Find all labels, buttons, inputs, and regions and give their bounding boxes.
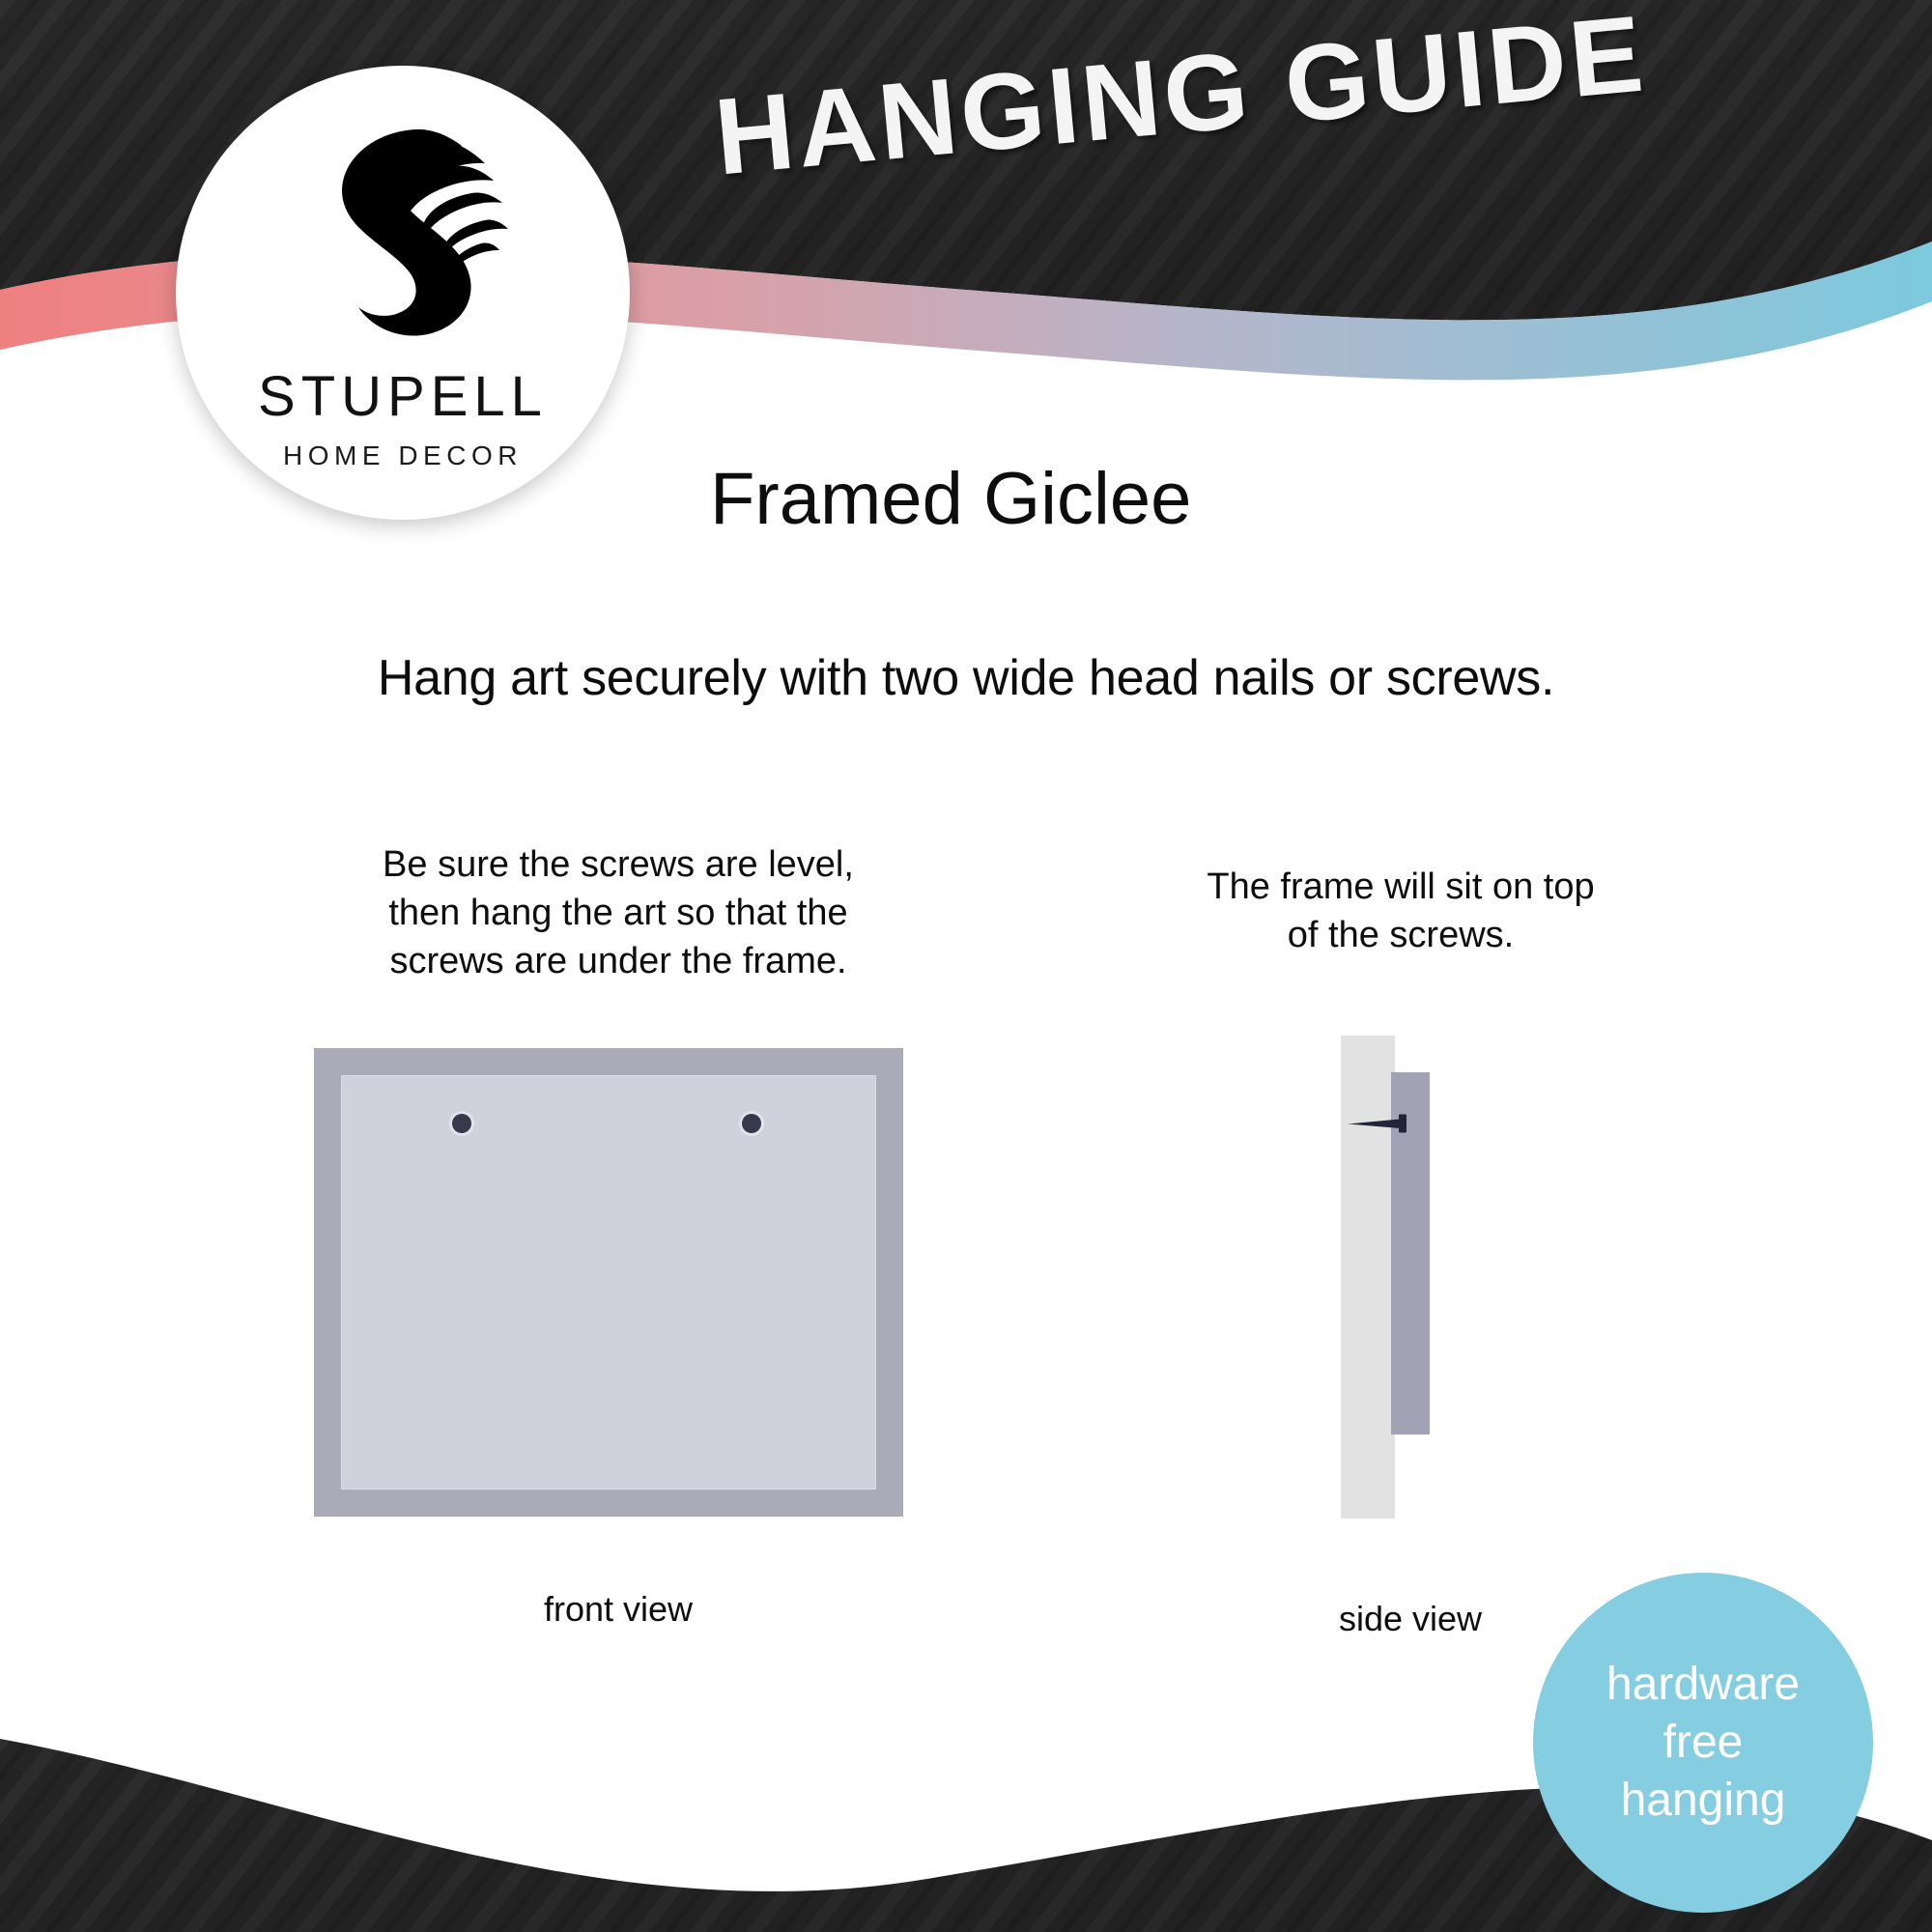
hanging-guide-page: HANGING GUIDE STUPELL HOME DECOR Framed … (0, 0, 1932, 1932)
badge-line-1: hardware (1606, 1656, 1800, 1714)
brand-subwordmark: HOME DECOR (283, 440, 523, 471)
side-view-label: side view (1198, 1599, 1623, 1639)
front-view-frame-diagram (314, 1048, 903, 1517)
front-view-label: front view (290, 1589, 947, 1630)
hardware-free-hanging-badge: hardware free hanging (1533, 1573, 1873, 1913)
nail-icon (1348, 1113, 1413, 1134)
front-view-mat (341, 1075, 876, 1490)
lead-instruction-text: Hang art securely with two wide head nai… (0, 649, 1932, 707)
brand-wordmark: STUPELL (258, 369, 548, 425)
page-title: HANGING GUIDE (710, 0, 1651, 199)
badge-line-2: free (1663, 1714, 1744, 1772)
stupell-swoosh-logo-icon (292, 122, 514, 363)
front-view-caption: Be sure the screws are level, then hang … (290, 840, 947, 985)
screw-dot-left (452, 1114, 471, 1133)
screw-dot-right (742, 1114, 761, 1133)
side-view-wall (1341, 1036, 1395, 1519)
brand-logo-badge: STUPELL HOME DECOR (176, 66, 630, 520)
badge-line-3: hanging (1621, 1772, 1786, 1830)
product-type-title: Framed Giclee (710, 457, 1191, 541)
side-view-caption: The frame will sit on top of the screws. (1111, 863, 1690, 959)
